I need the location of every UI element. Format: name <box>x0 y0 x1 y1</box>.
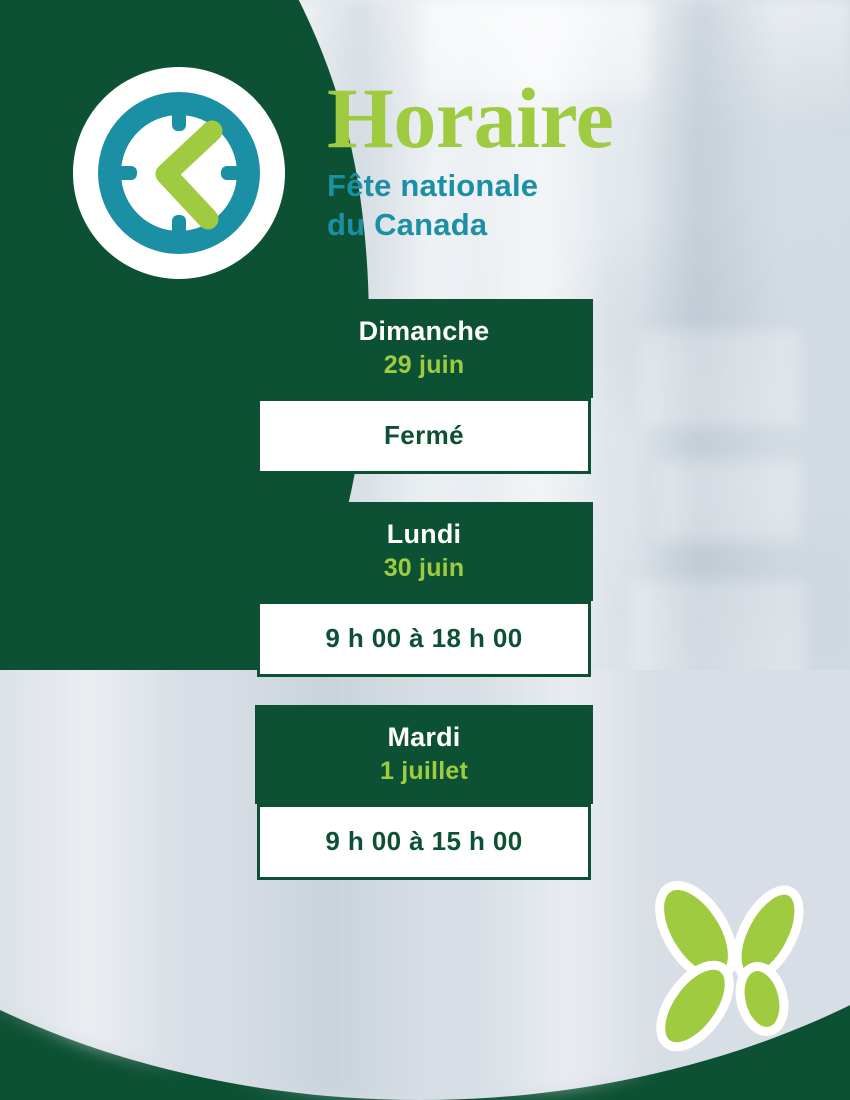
schedule-card-tuesday: Mardi 1 juillet 9 h 00 à 15 h 00 <box>255 705 593 880</box>
card-hours-label: Fermé <box>268 420 580 451</box>
card-header: Lundi 30 juin <box>255 502 593 601</box>
card-body: Fermé <box>257 398 591 474</box>
page-title: Horaire <box>327 78 747 160</box>
card-date-label: 29 juin <box>265 350 583 380</box>
card-day-label: Dimanche <box>265 316 583 348</box>
poster-subtitle: Fête nationale du Canada <box>327 166 747 245</box>
subtitle-line-2: du Canada <box>327 205 747 245</box>
card-date-label: 30 juin <box>265 553 583 583</box>
card-hours-label: 9 h 00 à 15 h 00 <box>268 826 580 857</box>
butterfly-logo-icon <box>638 878 822 1058</box>
schedule-card-monday: Lundi 30 juin 9 h 00 à 18 h 00 <box>255 502 593 677</box>
card-header: Dimanche 29 juin <box>255 299 593 398</box>
schedule-poster: Horaire Fête nationale du Canada Dimanch… <box>0 0 850 1100</box>
card-day-label: Lundi <box>265 519 583 551</box>
card-header: Mardi 1 juillet <box>255 705 593 804</box>
card-body: 9 h 00 à 15 h 00 <box>257 804 591 880</box>
schedule-card-sunday: Dimanche 29 juin Fermé <box>255 299 593 474</box>
subtitle-line-1: Fête nationale <box>327 166 747 206</box>
card-date-label: 1 juillet <box>265 756 583 786</box>
clock-icon <box>68 62 290 284</box>
schedule-list: Dimanche 29 juin Fermé Lundi 30 juin 9 h… <box>255 299 593 880</box>
card-day-label: Mardi <box>265 722 583 754</box>
card-hours-label: 9 h 00 à 18 h 00 <box>268 623 580 654</box>
card-body: 9 h 00 à 18 h 00 <box>257 601 591 677</box>
poster-header: Horaire Fête nationale du Canada <box>327 78 747 245</box>
